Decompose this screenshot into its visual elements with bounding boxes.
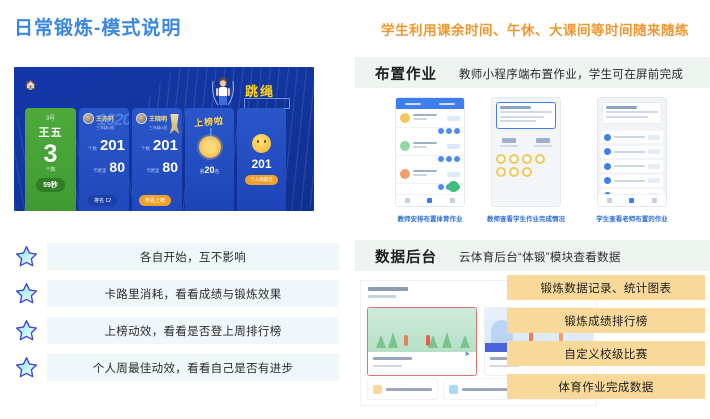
- yellow-label: 锻炼成绩排行榜: [507, 308, 705, 333]
- phone-caption: 教师安排布置体育作业: [375, 213, 485, 223]
- yellow-label: 锻炼数据记录、统计图表: [507, 275, 705, 300]
- yellow-label: 自定义校级比赛: [507, 341, 705, 366]
- blue-card-1-count-label: 个数: [88, 146, 97, 152]
- list-item-label: 卡路里消耗，看看成绩与锻炼效果: [47, 280, 339, 307]
- tile-grade-management[interactable]: [443, 378, 514, 400]
- list-item: [601, 175, 663, 187]
- tile-teaching-plan[interactable]: [367, 378, 438, 400]
- stats-row: [492, 133, 560, 150]
- phone-caption: 教师查看学生作业完成情况: [471, 213, 581, 223]
- green-card-time: 59秒: [36, 178, 65, 192]
- backend-subheading: [368, 295, 396, 298]
- list-item: [601, 146, 663, 158]
- add-button[interactable]: [448, 181, 459, 192]
- list-item: 个人周最佳动效，看看自己是否有进步: [14, 349, 339, 386]
- blue-card-2-calorie-label: 卡路里: [146, 168, 160, 174]
- phone-tab-bar[interactable]: [396, 98, 464, 109]
- hero-rank-card[interactable]: 上榜啦 第20名: [185, 108, 234, 211]
- blue-card-2-congrats-pill: 恭喜上榜: [139, 195, 171, 206]
- avatar: [400, 113, 410, 123]
- status-badge: [447, 172, 460, 177]
- list-item: [396, 137, 464, 156]
- sunburst-icon: [199, 136, 221, 158]
- hero-emoji-card[interactable]: 201 个人周最佳: [237, 108, 286, 211]
- list-item: [396, 109, 464, 128]
- blue-card-2-count-label: 个数: [141, 146, 150, 152]
- section-title-data: 数据后台: [375, 246, 437, 267]
- avatar: [496, 167, 506, 177]
- rank-suffix: 名: [215, 169, 220, 175]
- action-icons[interactable]: [396, 128, 464, 137]
- emoji-card-number: 201: [251, 157, 271, 171]
- list-item-label: 上榜动效，看看是否登上周排行榜: [47, 317, 339, 344]
- blue-card-1-count-value: 201: [100, 138, 125, 153]
- section-title-assign: 布置作业: [375, 63, 437, 84]
- star-icon: [14, 281, 39, 306]
- list-item-label: 个人周最佳动效，看看自己是否有进步: [47, 354, 339, 381]
- list-item: 上榜动效，看看是否登上周排行榜: [14, 312, 339, 349]
- avatar: [83, 113, 94, 124]
- green-card-name: 王五: [39, 124, 63, 140]
- action-icons[interactable]: [396, 156, 464, 165]
- phone-bottom-nav[interactable]: [598, 194, 666, 206]
- right-column: 学生利用课余时间、午休、大课间等时间随来随练 布置作业 教师小程序端布置作业，学…: [355, 0, 710, 419]
- list-item-text: [413, 142, 444, 150]
- blue-card-1-rank-pill: 排名 12: [88, 195, 117, 206]
- phone-mockup-completion-status: [491, 97, 561, 207]
- avatar: [522, 167, 532, 177]
- list-item: 各自开始，互不影响: [14, 238, 339, 275]
- blue-card-2-calorie-value: 80: [162, 160, 178, 175]
- green-card-count-unit: 个数: [45, 166, 55, 173]
- left-column: 日常锻炼-模式说明 🏠 跳绳 3号 王五 3: [0, 0, 355, 419]
- star-icon: [14, 355, 39, 380]
- jump-rope-girl-illustration: [210, 75, 236, 111]
- hero-blue-card-2[interactable]: 王晓明 三年级1班 个数 201 卡路里 80 恭喜上榜: [132, 108, 182, 211]
- rank-number: 20: [204, 165, 214, 175]
- avatar: [400, 169, 410, 179]
- list-item-label: 各自开始，互不影响: [47, 243, 339, 270]
- card-meta: [368, 352, 476, 367]
- blue-card-2-count-value: 201: [153, 138, 178, 153]
- phone-bottom-nav[interactable]: [396, 194, 464, 206]
- hero-card-row: 3号 王五 3 个数 59秒 1620 王亦轩 三年级1班 个数 201: [25, 108, 305, 211]
- backend-card-selected[interactable]: ➤: [367, 307, 477, 376]
- headline: 学生利用课余时间、午休、大课间等时间随来随练: [365, 19, 705, 39]
- avatar: [535, 154, 545, 164]
- home-icon[interactable]: 🏠: [25, 81, 34, 90]
- rank-card-title: 上榜啦: [194, 114, 225, 130]
- backend-heading: [368, 287, 408, 291]
- phone-caption: 学生查看老师布置的作业: [577, 213, 687, 223]
- stat-percent: [534, 138, 552, 147]
- list-item-text: [413, 170, 444, 178]
- stat-count: [500, 138, 518, 147]
- green-card-number: 3号: [46, 113, 55, 122]
- avatar: [400, 141, 410, 151]
- yellow-label: 体育作业完成数据: [507, 374, 705, 399]
- hero-blue-card-1[interactable]: 1620 王亦轩 三年级1班 个数 201 卡路里 80 排名 12: [79, 108, 129, 211]
- blue-card-2-name: 王晓明: [149, 114, 167, 123]
- summary-card: [496, 102, 556, 129]
- blue-card-1-calorie-label: 卡路里: [93, 168, 107, 174]
- smiley-face-icon: [252, 134, 271, 153]
- hero-green-card[interactable]: 3号 王五 3 个数 59秒: [25, 108, 76, 211]
- phone-mockup-student-view: [597, 97, 667, 207]
- star-icon: [14, 244, 39, 269]
- green-card-count: 3: [44, 141, 58, 167]
- list-item: [601, 131, 663, 143]
- avatar: [509, 167, 519, 177]
- list-item: 卡路里消耗，看看成绩与锻炼效果: [14, 275, 339, 312]
- slide-root: 日常锻炼-模式说明 🏠 跳绳 3号 王五 3: [0, 0, 710, 419]
- card-illustration-hiking: [368, 308, 476, 352]
- section-subtitle-data: 云体育后台“体锻”模块查看数据: [459, 249, 621, 265]
- phone-mockup-teacher-assign: [395, 97, 465, 207]
- status-badge: [447, 116, 460, 121]
- emoji-card-pill: 个人周最佳: [245, 175, 278, 185]
- app-hero-screenshot: 🏠 跳绳 3号 王五 3 个数 59秒: [14, 67, 314, 211]
- list-item-text: [413, 114, 444, 122]
- section-subtitle-assign: 教师小程序端布置作业，学生可在屏前完成: [459, 66, 683, 82]
- avatar: [136, 113, 147, 124]
- star-icon: [14, 318, 39, 343]
- list-item: [601, 160, 663, 172]
- chevron-right-icon[interactable]: ➤: [464, 350, 470, 358]
- student-avatar-grid[interactable]: [492, 150, 560, 181]
- blue-card-1-watermark: 1620: [97, 110, 129, 130]
- avatar: [509, 154, 519, 164]
- rank-card-number-wrap: 第20名: [199, 165, 219, 175]
- assignment-card: [602, 102, 662, 124]
- avatar: [522, 154, 532, 164]
- yellow-label-list: 锻炼数据记录、统计图表 锻炼成绩排行榜 自定义校级比赛 体育作业完成数据: [507, 275, 705, 407]
- status-badge: [447, 144, 460, 149]
- blue-card-1-calorie-value: 80: [109, 160, 125, 175]
- avatar: [496, 154, 506, 164]
- phone-mockup-row: 教师安排布置体育作业 教师查看学生作业完成情况 学生查看老师布置的作业: [355, 97, 710, 229]
- page-title: 日常锻炼-模式说明: [14, 13, 181, 40]
- bullet-list: 各自开始，互不影响 卡路里消耗，看看成绩与锻炼效果 上榜动效，看看是否登上周排行…: [14, 238, 339, 386]
